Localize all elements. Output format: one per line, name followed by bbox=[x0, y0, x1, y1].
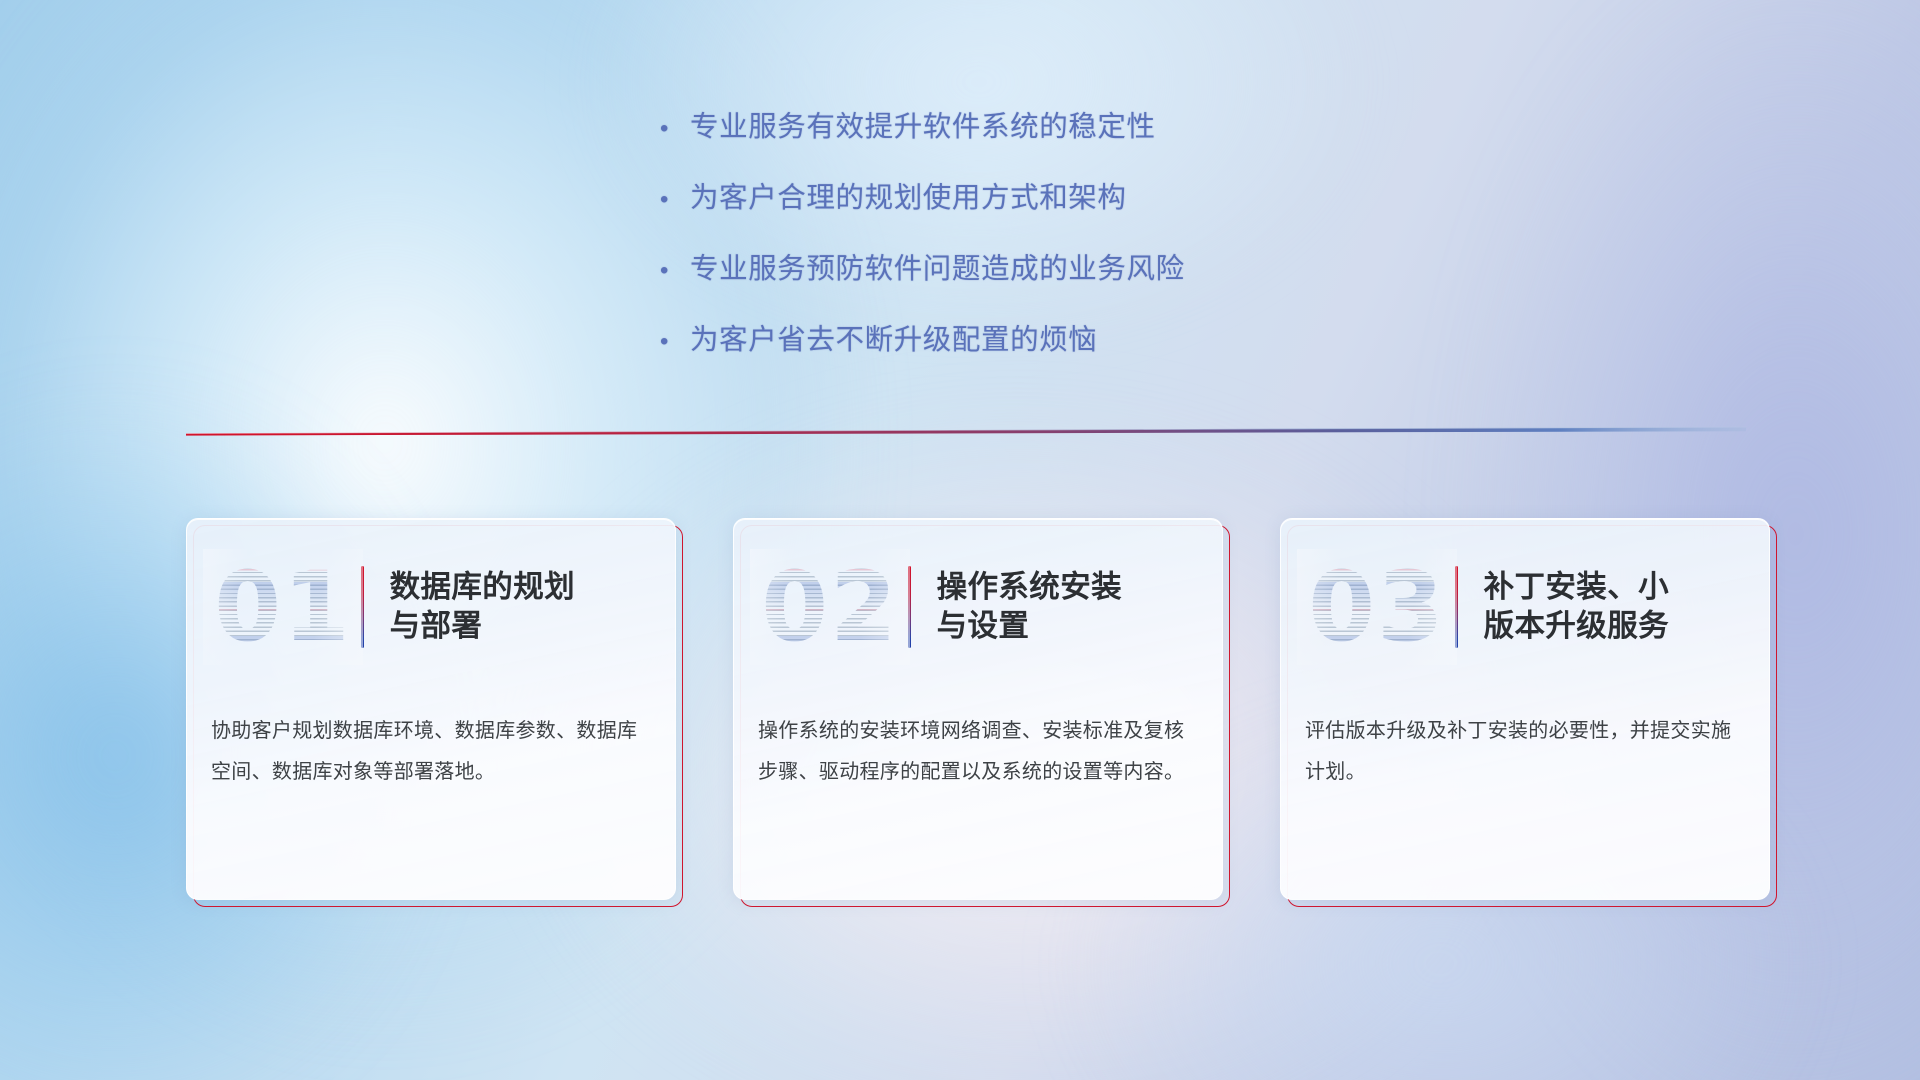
divider-wedge-shape bbox=[186, 424, 1746, 438]
benefits-bullet-list: • 专业服务有效提升软件系统的稳定性 • 为客户合理的规划使用方式和架构 • 专… bbox=[660, 104, 1185, 388]
bullet-dot-icon: • bbox=[660, 117, 690, 141]
card-panel: 03 03 03 补丁安装、小 版本升级服务 评估版本升级及补丁安装的必要性，并… bbox=[1280, 518, 1770, 900]
card-number-watermark: 03 03 03 bbox=[1303, 555, 1451, 659]
card-accent-bar bbox=[361, 566, 364, 648]
bullet-text: 为客户省去不断升级配置的烦恼 bbox=[690, 317, 1097, 358]
service-card-list: 01 01 01 数据库的规划 与部署 协助客户规划数据库环境、数据库参数、数据… bbox=[186, 518, 1770, 900]
card-description: 操作系统的安装环境网络调查、安装标准及复核步骤、驱动程序的配置以及系统的设置等内… bbox=[758, 711, 1202, 793]
bullet-text: 专业服务预防软件问题造成的业务风险 bbox=[690, 246, 1185, 287]
card-accent-bar bbox=[908, 566, 911, 648]
service-card[interactable]: 02 02 02 操作系统安装 与设置 操作系统的安装环境网络调查、安装标准及复… bbox=[733, 518, 1223, 900]
card-number-glyph-blue: 03 bbox=[1303, 555, 1451, 659]
bullet-dot-icon: • bbox=[660, 188, 690, 212]
list-item: • 为客户省去不断升级配置的烦恼 bbox=[660, 317, 1185, 358]
card-number-watermark: 02 02 02 bbox=[756, 555, 904, 659]
card-description: 协助客户规划数据库环境、数据库参数、数据库空间、数据库对象等部署落地。 bbox=[211, 711, 655, 793]
card-accent-bar bbox=[1455, 566, 1458, 648]
card-header: 01 01 01 数据库的规划 与部署 bbox=[187, 553, 675, 661]
card-panel: 01 01 01 数据库的规划 与部署 协助客户规划数据库环境、数据库参数、数据… bbox=[186, 518, 676, 900]
list-item: • 专业服务预防软件问题造成的业务风险 bbox=[660, 246, 1185, 287]
card-description: 评估版本升级及补丁安装的必要性，并提交实施计划。 bbox=[1305, 711, 1749, 793]
card-title: 数据库的规划 与部署 bbox=[390, 568, 575, 645]
bullet-text: 为客户合理的规划使用方式和架构 bbox=[690, 175, 1127, 216]
service-card[interactable]: 01 01 01 数据库的规划 与部署 协助客户规划数据库环境、数据库参数、数据… bbox=[186, 518, 676, 900]
card-title: 操作系统安装 与设置 bbox=[937, 568, 1122, 645]
section-divider bbox=[186, 424, 1746, 438]
card-panel: 02 02 02 操作系统安装 与设置 操作系统的安装环境网络调查、安装标准及复… bbox=[733, 518, 1223, 900]
list-item: • 为客户合理的规划使用方式和架构 bbox=[660, 175, 1185, 216]
bullet-dot-icon: • bbox=[660, 330, 690, 354]
card-number-glyph-blue: 02 bbox=[756, 555, 904, 659]
card-header: 03 03 03 补丁安装、小 版本升级服务 bbox=[1281, 553, 1769, 661]
bullet-text: 专业服务有效提升软件系统的稳定性 bbox=[690, 104, 1156, 145]
bullet-dot-icon: • bbox=[660, 259, 690, 283]
card-title: 补丁安装、小 版本升级服务 bbox=[1484, 568, 1669, 645]
card-number-watermark: 01 01 01 bbox=[209, 555, 357, 659]
service-card[interactable]: 03 03 03 补丁安装、小 版本升级服务 评估版本升级及补丁安装的必要性，并… bbox=[1280, 518, 1770, 900]
card-header: 02 02 02 操作系统安装 与设置 bbox=[734, 553, 1222, 661]
list-item: • 专业服务有效提升软件系统的稳定性 bbox=[660, 104, 1185, 145]
card-number-glyph-blue: 01 bbox=[209, 555, 357, 659]
